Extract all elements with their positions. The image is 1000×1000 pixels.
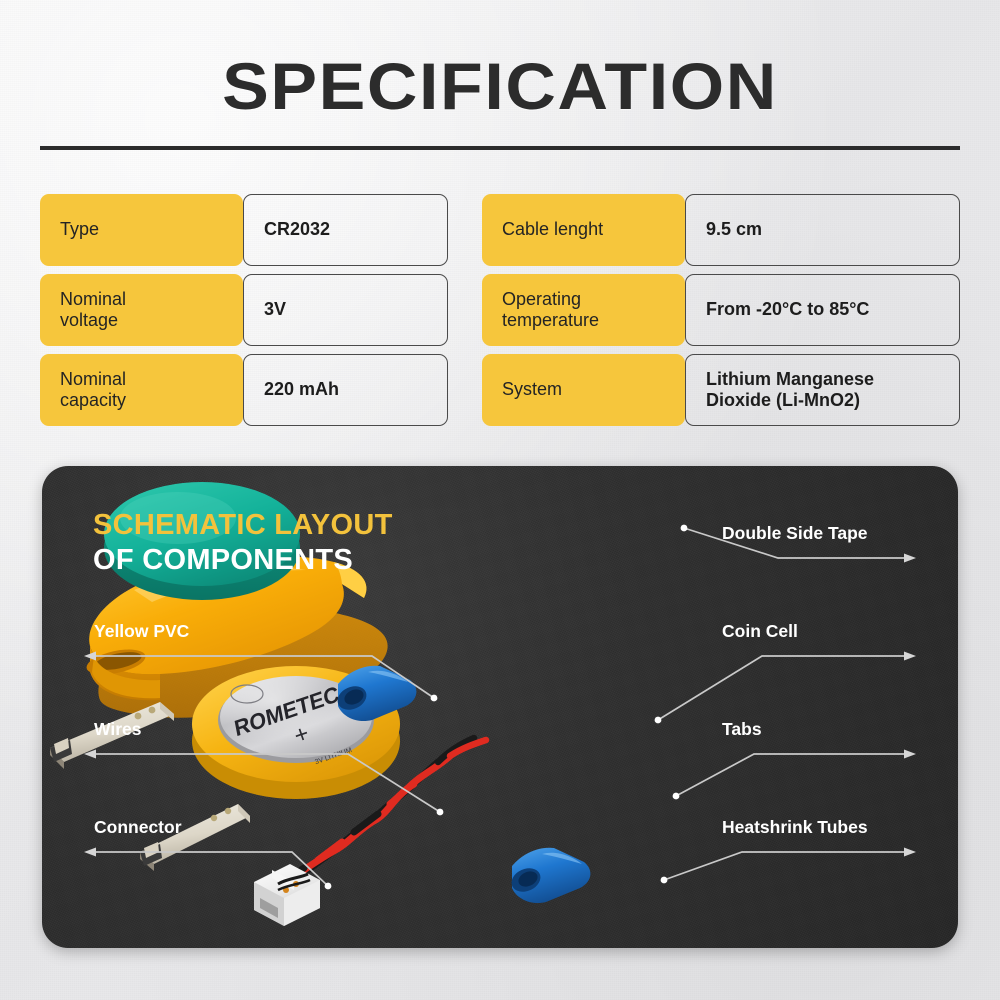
label-wires: Wires xyxy=(94,719,142,740)
spec-label-operating-temperature: Operatingtemperature xyxy=(482,274,685,346)
schematic-panel: SCHEMATIC LAYOUT OF COMPONENTS xyxy=(42,466,958,948)
spec-label-cable-length: Cable lenght xyxy=(482,194,685,266)
title-divider xyxy=(40,146,960,150)
specification-table: Type CR2032 Cable lenght 9.5 cm Nominalv… xyxy=(40,194,960,426)
spec-label-system: System xyxy=(482,354,685,426)
leader-arrowheads xyxy=(84,554,916,857)
schematic-heading: SCHEMATIC LAYOUT OF COMPONENTS xyxy=(93,509,393,579)
leader-line-connector xyxy=(94,852,328,886)
label-coin-cell: Coin Cell xyxy=(722,621,798,642)
leader-endpoint-dots xyxy=(325,525,688,890)
spec-value-operating-temperature: From -20°C to 85°C xyxy=(685,274,960,346)
label-connector: Connector xyxy=(94,817,182,838)
spec-value-nominal-voltage: 3V xyxy=(243,274,448,346)
spec-label-type: Type xyxy=(40,194,243,266)
schematic-heading-line1: SCHEMATIC LAYOUT xyxy=(93,509,393,542)
page-title: SPECIFICATION xyxy=(0,48,1000,124)
leader-line-yellow-pvc xyxy=(94,656,434,698)
spec-value-nominal-capacity: 220 mAh xyxy=(243,354,448,426)
schematic-heading-line2: OF COMPONENTS xyxy=(93,542,393,579)
column-gap xyxy=(448,354,482,426)
leader-line-coin-cell xyxy=(658,656,906,720)
column-gap xyxy=(448,194,482,266)
column-gap xyxy=(448,274,482,346)
spec-label-nominal-voltage: Nominalvoltage xyxy=(40,274,243,346)
leader-line-tabs xyxy=(676,754,906,796)
leader-line-wires xyxy=(94,754,440,812)
label-tabs: Tabs xyxy=(722,719,762,740)
label-double-side-tape: Double Side Tape xyxy=(722,523,868,544)
spec-value-type: CR2032 xyxy=(243,194,448,266)
spec-value-cable-length: 9.5 cm xyxy=(685,194,960,266)
specification-sheet: SPECIFICATION Type CR2032 Cable lenght 9… xyxy=(0,0,1000,1000)
leader-line-heatshrink-tubes xyxy=(664,852,906,880)
label-heatshrink-tubes: Heatshrink Tubes xyxy=(722,817,868,838)
spec-value-system: Lithium ManganeseDioxide (Li-MnO2) xyxy=(685,354,960,426)
label-yellow-pvc: Yellow PVC xyxy=(94,621,189,642)
spec-label-nominal-capacity: Nominalcapacity xyxy=(40,354,243,426)
